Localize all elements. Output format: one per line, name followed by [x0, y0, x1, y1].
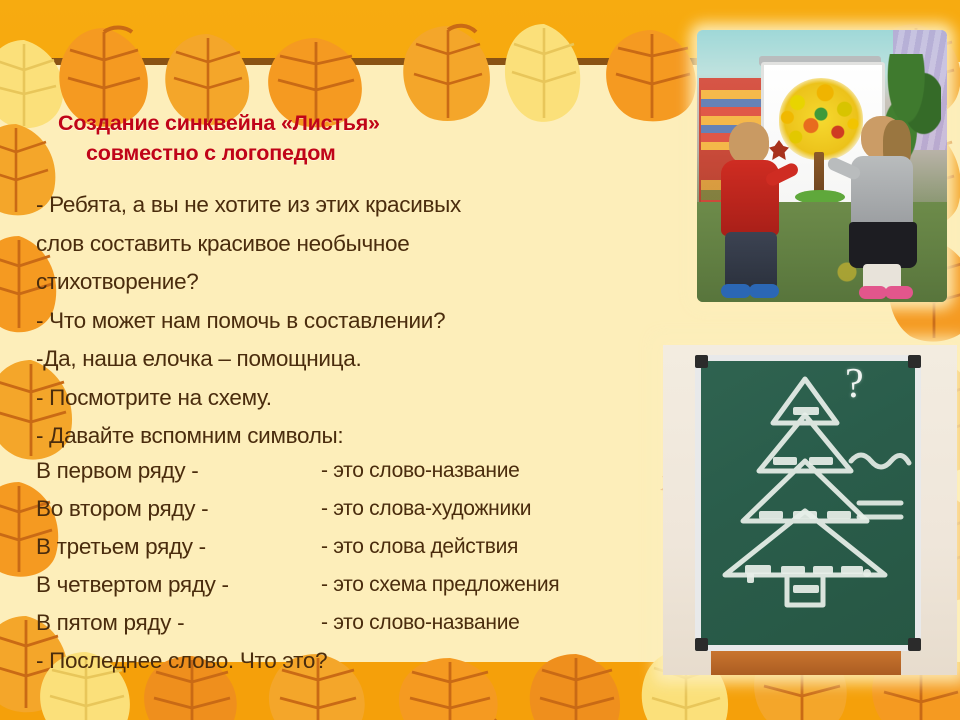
photo-girl	[843, 116, 927, 300]
sinkwein-row-answer: - это слова действия	[321, 528, 518, 566]
photo-children-at-easel	[697, 30, 947, 302]
slide-title-line2: совместно с логопедом	[58, 138, 618, 168]
sinkwein-row: В первом ряду - - это слово-название	[36, 452, 696, 490]
sinkwein-row: В четвертом ряду - - это схема предложен…	[36, 566, 696, 604]
dialogue-line: слов составить красивое необычное	[36, 225, 676, 264]
slide-title: Создание синквейна «Листья» совместно с …	[58, 108, 618, 168]
chalk-question-mark: ?	[845, 363, 864, 405]
sinkwein-row-answer: - это схема предложения	[321, 566, 559, 604]
sinkwein-row-label: В пятом ряду -	[36, 604, 184, 642]
chalk-sinkwein-tree-diagram	[701, 361, 915, 645]
sinkwein-row: Во втором ряду - - это слова-художники	[36, 490, 696, 528]
sinkwein-row: В третьем ряду - - это слова действия	[36, 528, 696, 566]
photo-wooden-floor	[711, 651, 901, 675]
dialogue-lines: - Ребята, а вы не хотите из этих красивы…	[36, 186, 676, 456]
dialogue-line: - Посмотрите на схему.	[36, 379, 676, 418]
photo-girl-shoe-right	[885, 286, 913, 299]
slide-root: ? Создание синквейна «Листья» совместно …	[0, 0, 960, 720]
closing-question-line: - Последнее слово. Что это?	[36, 645, 327, 677]
photo-girl-shoe-left	[859, 286, 887, 299]
photo-boy-head	[729, 122, 769, 164]
slide-text-area: Создание синквейна «Листья» совместно с …	[0, 0, 700, 720]
dialogue-line: -Да, наша елочка – помощница.	[36, 340, 676, 379]
sinkwein-row-label: В третьем ряду -	[36, 528, 206, 566]
sinkwein-row: В пятом ряду - - это слово-название	[36, 604, 696, 642]
photo-chalkboard-scheme: ?	[663, 345, 957, 675]
photo-girl-skirt	[849, 222, 917, 268]
photo-boy-shoe-left	[721, 284, 751, 298]
sinkwein-row-answer: - это слово-название	[321, 604, 520, 642]
sinkwein-row-label: В первом ряду -	[36, 452, 198, 490]
dialogue-line: стихотворение?	[36, 263, 676, 302]
dialogue-line: - Ребята, а вы не хотите из этих красивы…	[36, 186, 676, 225]
photo-boy	[715, 122, 785, 298]
photo-boy-shoe-right	[749, 284, 779, 298]
slide-title-line1: Создание синквейна «Листья»	[58, 111, 380, 135]
photo-boy-trousers	[725, 232, 777, 290]
dialogue-line: - Что может нам помочь в составлении?	[36, 302, 676, 341]
sinkwein-row-answer: - это слова-художники	[321, 490, 531, 528]
photo-boy-red-sweater	[721, 160, 779, 236]
sinkwein-rows-list: В первом ряду - - это слово-название Во …	[36, 452, 696, 642]
dialogue-line: - Давайте вспомним символы:	[36, 417, 676, 456]
sinkwein-row-label: Во втором ряду -	[36, 490, 208, 528]
photo-girl-grey-sweater	[851, 156, 913, 228]
sinkwein-row-label: В четвертом ряду -	[36, 566, 229, 604]
sinkwein-row-answer: - это слово-название	[321, 452, 520, 490]
